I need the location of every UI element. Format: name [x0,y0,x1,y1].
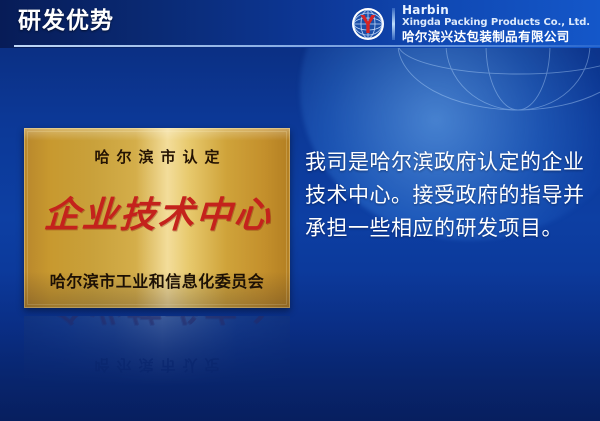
brand-name-cn: 哈尔滨兴达包装制品有限公司 [402,30,590,43]
header-bar: 研发优势 Harb [0,0,600,48]
plaque-heading: 哈尔滨市认定 [24,146,290,167]
globe-logo-icon [351,7,385,41]
brand-text: Harbin Xingda Packing Products Co., Ltd.… [402,4,590,43]
company-logo [351,7,385,41]
page-title: 研发优势 [18,6,114,36]
brand-name-en-primary: Harbin [402,4,590,17]
brand-block: Harbin Xingda Packing Products Co., Ltd.… [351,3,590,45]
header-divider [14,45,600,47]
background-bottom-shade [0,271,600,421]
slide-root: 研发优势 Harb [0,0,600,421]
plaque-main-title: 企业技术中心 [24,186,290,238]
brand-name-en-secondary: Xingda Packing Products Co., Ltd. [402,18,590,29]
brand-separator [392,8,395,40]
body-paragraph: 我司是哈尔滨政府认定的企业技术中心。接受政府的指导并承担一些相应的研发项目。 [305,146,593,245]
